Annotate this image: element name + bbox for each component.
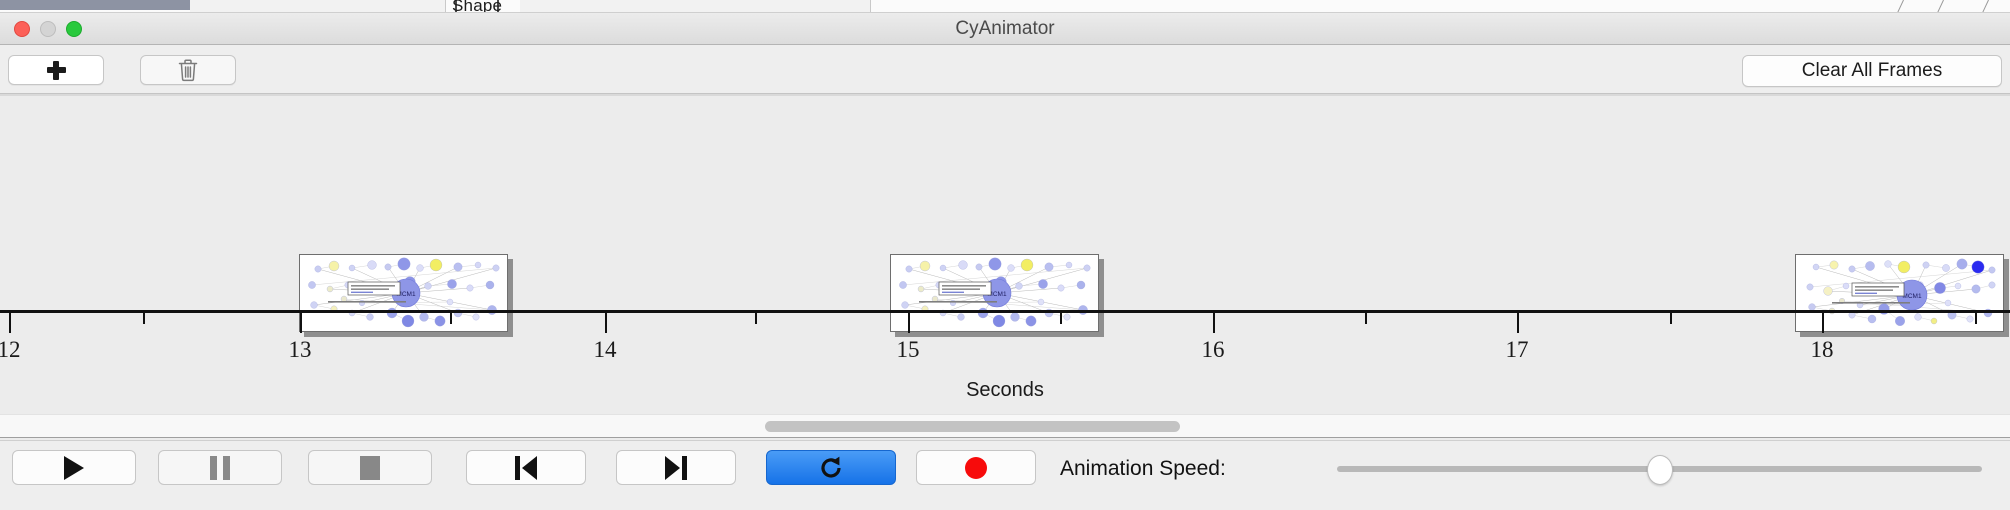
axis-tick-label: 17 xyxy=(1506,337,1529,363)
stop-icon xyxy=(360,456,380,480)
timeline-panel[interactable]: MCM1 MCM1 MCM1 121 xyxy=(0,94,2010,414)
axis-tick-major xyxy=(1213,313,1215,333)
scrollbar-thumb[interactable] xyxy=(765,421,1180,432)
record-icon xyxy=(965,457,987,479)
background-glyph xyxy=(1897,0,1904,13)
thumbnail-image: MCM1 xyxy=(299,254,508,332)
axis-tick-minor xyxy=(143,313,145,324)
slider-thumb[interactable] xyxy=(1647,455,1673,485)
add-frame-button[interactable] xyxy=(8,55,104,85)
record-button[interactable] xyxy=(916,450,1036,485)
axis-tick-minor xyxy=(755,313,757,324)
window-title: CyAnimator xyxy=(0,13,2010,45)
play-button[interactable] xyxy=(12,450,136,485)
loop-button[interactable] xyxy=(766,450,896,485)
background-glyph xyxy=(1982,0,1989,13)
timeline-top-edge xyxy=(0,94,2010,96)
pause-button[interactable] xyxy=(158,450,282,485)
toolbar: Clear All Frames xyxy=(0,45,2010,94)
axis-tick-minor xyxy=(1975,313,1977,324)
svg-text:MCM1: MCM1 xyxy=(1902,293,1922,300)
axis-tick-major xyxy=(1822,313,1824,333)
titlebar: CyAnimator xyxy=(0,13,2010,45)
play-icon xyxy=(64,456,84,480)
axis-tick-major xyxy=(9,313,11,333)
axis-tick-major xyxy=(300,313,302,333)
axis-tick-major xyxy=(908,313,910,333)
background-window-titlebar xyxy=(0,0,190,10)
thumbnail-image: MCM1 xyxy=(890,254,1099,332)
loop-icon xyxy=(817,454,845,482)
axis-tick-label: 18 xyxy=(1811,337,1834,363)
clear-all-frames-button[interactable]: Clear All Frames xyxy=(1742,55,2002,87)
timeline-scrollbar[interactable] xyxy=(0,414,2010,438)
trash-icon xyxy=(177,58,199,82)
axis-tick-label: 15 xyxy=(897,337,920,363)
axis-title: Seconds xyxy=(0,379,2010,402)
playback-controls: Animation Speed: xyxy=(0,440,2010,510)
background-glyph xyxy=(1937,0,1944,13)
delete-frame-button[interactable] xyxy=(140,55,236,85)
axis-tick-minor xyxy=(1670,313,1672,324)
keyframe-thumbnail[interactable]: MCM1 xyxy=(299,254,513,336)
axis-tick-major xyxy=(1517,313,1519,333)
axis-tick-minor xyxy=(1365,313,1367,324)
skip-back-icon xyxy=(515,456,537,480)
keyframe-thumbnail[interactable]: MCM1 xyxy=(890,254,1104,336)
plus-icon xyxy=(47,61,66,80)
thumbnail-image: MCM1 xyxy=(1795,254,2004,332)
axis-tick-minor xyxy=(450,313,452,324)
next-frame-button[interactable] xyxy=(616,450,736,485)
axis-tick-minor xyxy=(1060,313,1062,324)
cyanimator-window: Shape CyAnimator Clear All Frames xyxy=(0,0,2010,510)
axis-tick-label: 13 xyxy=(289,337,312,363)
animation-speed-slider[interactable] xyxy=(1337,457,1982,481)
axis-tick-major xyxy=(605,313,607,333)
axis-tick-label: 12 xyxy=(0,337,21,363)
previous-frame-button[interactable] xyxy=(466,450,586,485)
background-window-strip: Shape xyxy=(0,0,2010,13)
pause-icon xyxy=(210,456,230,480)
axis-tick-label: 16 xyxy=(1202,337,1225,363)
axis-tick-label: 14 xyxy=(594,337,617,363)
animation-speed-label: Animation Speed: xyxy=(1060,457,1226,481)
skip-forward-icon xyxy=(665,456,687,480)
stop-button[interactable] xyxy=(308,450,432,485)
